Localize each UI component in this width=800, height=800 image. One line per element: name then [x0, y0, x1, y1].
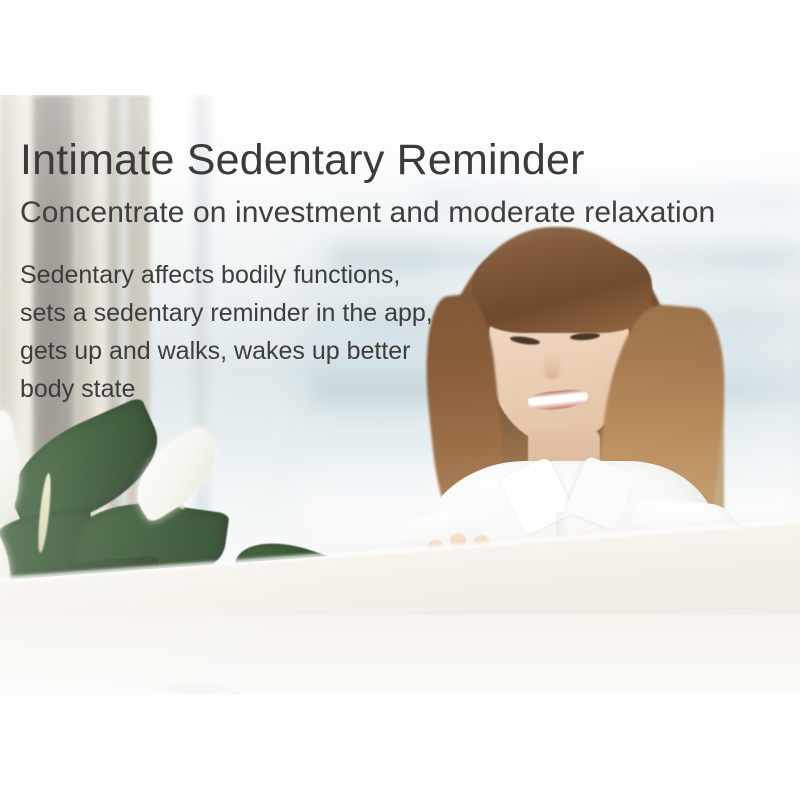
- hair-fringe: [472, 237, 652, 333]
- cup-rim: [157, 682, 237, 695]
- product-banner: Intimate Sedentary Reminder Concentrate …: [0, 0, 800, 800]
- nose: [544, 353, 560, 379]
- desk-front: [0, 615, 800, 695]
- lifestyle-photo: [0, 95, 800, 695]
